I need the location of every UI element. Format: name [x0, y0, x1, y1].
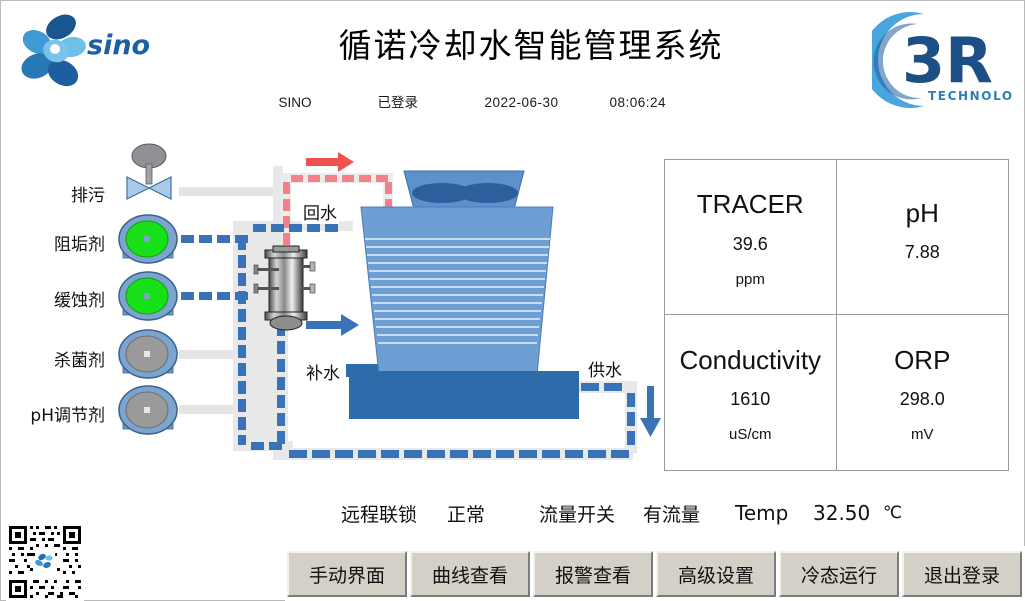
readout-conductivity[interactable]: Conductivity 1610 uS/cm — [665, 315, 837, 470]
alarm-view-button[interactable]: 报警查看 — [533, 551, 653, 597]
label-supply-water: 供水 — [586, 356, 624, 381]
label-biocide: 杀菌剂 — [19, 346, 105, 371]
circulation-loop — [238, 224, 635, 458]
label-ph-adjuster: pH调节剂 — [11, 401, 105, 426]
readout-value: 298.0 — [900, 389, 945, 410]
valve-body-left — [127, 177, 149, 199]
remote-interlock-value: 正常 — [447, 500, 539, 527]
pump-biocide — [119, 330, 177, 378]
sino-flower-mark — [18, 11, 88, 91]
qr-code — [6, 523, 84, 601]
label-makeup-water: 补水 — [304, 359, 342, 384]
valve-actuator — [132, 144, 166, 168]
readout-name: TRACER — [697, 190, 804, 220]
page-title: 循诺冷却水智能管理系统 — [251, 19, 811, 67]
fan-blade-right — [458, 183, 518, 203]
makeup-water-arrow — [306, 314, 359, 336]
header-bar: sino 循诺冷却水智能管理系统 SINO 已登录 2022-06-30 08:… — [1, 1, 1024, 121]
label-return-water: 回水 — [301, 199, 339, 224]
3r-tagline: TECHNOLOGY — [928, 89, 1012, 103]
temperature-label: Temp — [735, 501, 813, 525]
readout-value: 7.88 — [905, 242, 940, 263]
temperature-unit: ℃ — [883, 503, 902, 523]
sensor-analyzer-chamber — [254, 246, 315, 330]
supply-water-arrow — [640, 386, 661, 437]
pump-run-indicator — [126, 278, 168, 314]
trend-curve-button[interactable]: 曲线查看 — [410, 551, 530, 597]
readout-unit: ppm — [736, 271, 765, 288]
fan-blade-left — [412, 183, 472, 203]
readout-value: 1610 — [730, 389, 770, 410]
logout-button[interactable]: 退出登录 — [902, 551, 1022, 597]
logged-in-user: SINO — [251, 95, 339, 110]
makeup-water-pipe-v — [410, 364, 423, 402]
pump-idle-indicator — [126, 392, 168, 428]
makeup-water-pipe-h — [346, 364, 423, 377]
3r-wordmark: 3R — [902, 24, 993, 97]
pump-ph-adjuster — [119, 386, 177, 434]
system-date: 2022-06-30 — [457, 95, 587, 110]
cold-run-button[interactable]: 冷态运行 — [779, 551, 899, 597]
readout-ph[interactable]: pH 7.88 — [837, 160, 1009, 315]
pump-run-indicator — [126, 221, 168, 257]
readout-unit: uS/cm — [729, 426, 772, 443]
pipe-blowdown-idle — [179, 187, 289, 196]
valve-body-right — [149, 177, 171, 199]
measurement-readout-panel: TRACER 39.6 ppm pH 7.88 Conductivity 161… — [664, 159, 1009, 471]
readout-value: 39.6 — [733, 234, 768, 255]
3r-technology-logo: 3R TECHNOLOGY — [872, 4, 1012, 116]
tower-body — [361, 207, 553, 375]
readout-name: pH — [906, 199, 939, 229]
blowdown-valve-icon — [127, 144, 171, 199]
sino-wordmark: sino — [87, 30, 150, 61]
pipe-biocide-idle — [179, 350, 251, 359]
dosing-feed-lines — [181, 235, 248, 300]
pump-antiscalant — [119, 215, 177, 263]
pump-idle-indicator — [126, 336, 168, 372]
pump-corrosion-inhibitor — [119, 272, 177, 320]
readout-name: ORP — [894, 346, 950, 376]
status-bar: 远程联锁 正常 流量开关 有流量 Temp 32.50 ℃ — [341, 496, 1011, 530]
system-time: 08:06:24 — [590, 95, 685, 110]
remote-interlock-label: 远程联锁 — [341, 500, 447, 527]
scada-application-window: sino 循诺冷却水智能管理系统 SINO 已登录 2022-06-30 08:… — [0, 0, 1025, 601]
cooling-tower — [349, 171, 579, 419]
header-info: SINO 已登录 2022-06-30 08:06:24 — [251, 91, 871, 111]
return-flow-arrow — [306, 152, 354, 172]
manual-interface-button[interactable]: 手动界面 — [287, 551, 407, 597]
label-blowdown: 排污 — [19, 181, 105, 206]
pipe-ph-idle — [179, 405, 251, 414]
label-antiscalant: 阻垢剂 — [19, 230, 105, 255]
temperature-value: 32.50 — [813, 501, 883, 525]
readout-unit: mV — [911, 426, 934, 443]
readout-orp[interactable]: ORP 298.0 mV — [837, 315, 1009, 470]
readout-name: Conductivity — [679, 346, 821, 376]
tower-fan-shroud — [404, 171, 524, 213]
bottom-button-bar: 手动界面 曲线查看 报警查看 高级设置 冷态运行 退出登录 — [285, 546, 1025, 601]
tower-basin — [349, 371, 579, 419]
advanced-settings-button[interactable]: 高级设置 — [656, 551, 776, 597]
readout-tracer[interactable]: TRACER 39.6 ppm — [665, 160, 837, 315]
flow-switch-label: 流量开关 — [539, 500, 643, 527]
sino-logo: sino — [15, 11, 175, 96]
tower-louvers — [365, 239, 550, 343]
label-corrosion-inhibitor: 缓蚀剂 — [19, 286, 105, 311]
login-status: 已登录 — [343, 91, 453, 111]
valve-stem — [146, 164, 152, 184]
flow-switch-value: 有流量 — [643, 500, 735, 527]
